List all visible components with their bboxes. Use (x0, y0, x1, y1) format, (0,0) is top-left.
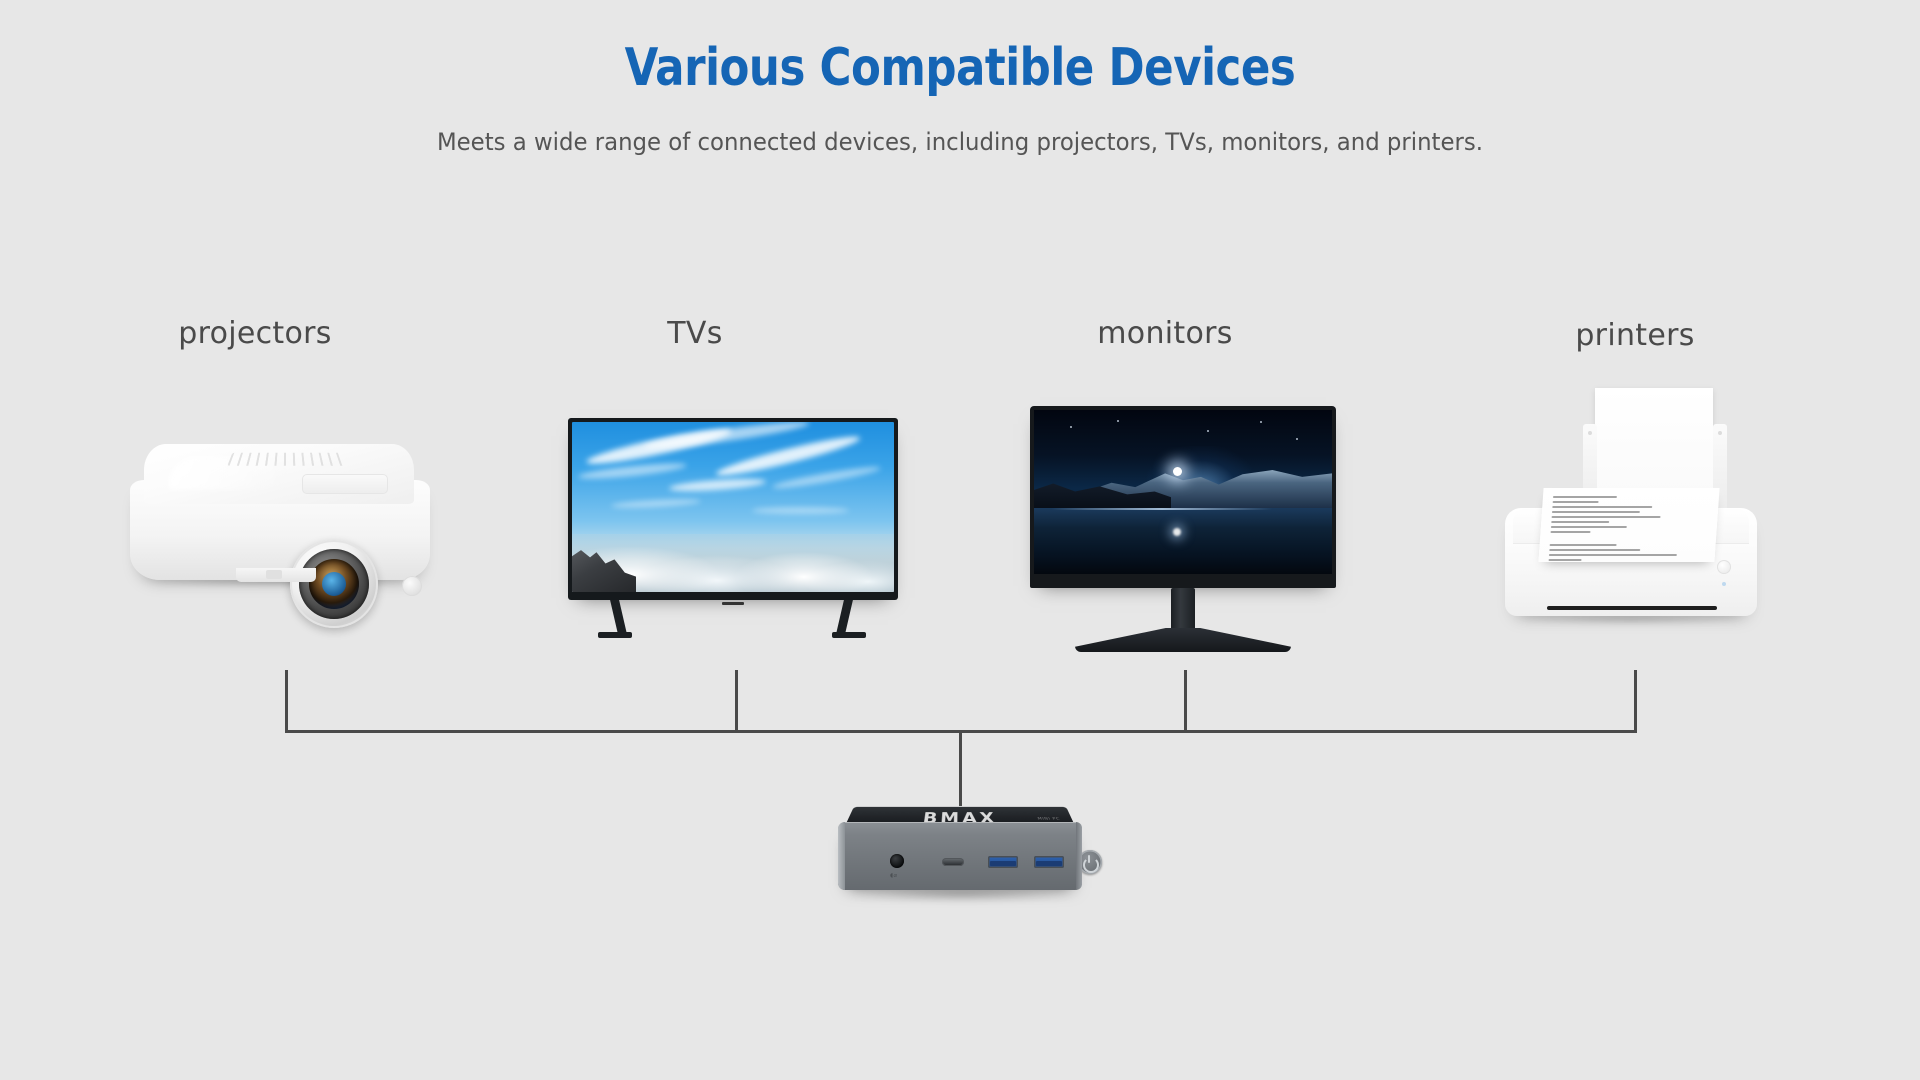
projector-ir-sensor-icon (402, 576, 422, 596)
tv-stand-right (836, 600, 853, 634)
monitor-bezel (1030, 406, 1336, 588)
audio-jack-port[interactable] (890, 854, 904, 868)
projector-top-shell (144, 444, 414, 504)
monitor-stand-base (1075, 628, 1291, 652)
infographic-canvas: Various Compatible Devices Meets a wide … (0, 0, 1920, 1080)
tv-foot-right (832, 632, 866, 638)
monitor-moon-icon (1173, 467, 1182, 476)
audio-jack-icon: ◖⌀ (890, 872, 897, 879)
monitor-moon-reflection (1173, 528, 1181, 536)
connector-projector (285, 670, 288, 732)
category-label-monitors: monitors (1065, 316, 1265, 351)
printer-output-paper (1538, 488, 1719, 562)
device-monitor (1030, 406, 1336, 652)
connector-monitor (1184, 670, 1187, 732)
connector-hub-drop (959, 730, 962, 806)
tv-stand-left (610, 600, 627, 634)
projector-lens-core (322, 572, 346, 596)
mini-pc-right-edge (1076, 822, 1082, 890)
usb-a-port-2[interactable] (1034, 856, 1064, 868)
monitor-lake (1034, 508, 1332, 574)
projector-vent-icon (227, 453, 348, 466)
tv-brand-mark (722, 602, 744, 605)
device-mini-pc-hub: BMAX MINI PC ◖⌀ (838, 796, 1082, 904)
usb-c-port[interactable] (942, 858, 964, 866)
device-printer (1505, 388, 1757, 628)
category-label-projectors: projectors (135, 316, 375, 351)
mini-pc-left-edge (838, 822, 845, 890)
projector-focus-panel (302, 474, 388, 494)
tv-screen (572, 422, 894, 592)
tv-bezel (568, 418, 898, 600)
printer-paper-text-lines (1548, 496, 1705, 564)
tv-foot-left (598, 632, 632, 638)
mini-pc-front-panel: ◖⌀ (838, 822, 1082, 890)
page-title: Various Compatible Devices (67, 38, 1853, 98)
monitor-screen (1034, 410, 1332, 574)
mini-pc-brand-sublabel: MINI PC (1037, 817, 1061, 821)
connector-printer (1634, 670, 1637, 732)
device-projector (130, 440, 440, 600)
printer-power-button[interactable] (1717, 560, 1731, 574)
projector-lens-inner (299, 549, 369, 619)
monitor-shoreline (1052, 508, 1273, 510)
printer-output-slot (1547, 606, 1717, 610)
usb-a-port-1[interactable] (988, 856, 1018, 868)
category-label-printers: printers (1530, 318, 1740, 353)
category-label-tvs: TVs (615, 316, 775, 351)
page-subtitle: Meets a wide range of connected devices,… (48, 128, 1872, 156)
printer-status-led-icon (1722, 582, 1726, 586)
printer-input-paper (1595, 388, 1713, 500)
projector-lens-icon (290, 540, 378, 628)
device-tv (568, 418, 898, 644)
connector-tv (735, 670, 738, 732)
projector-lens-coating (309, 559, 359, 609)
projector-foot (236, 568, 316, 582)
